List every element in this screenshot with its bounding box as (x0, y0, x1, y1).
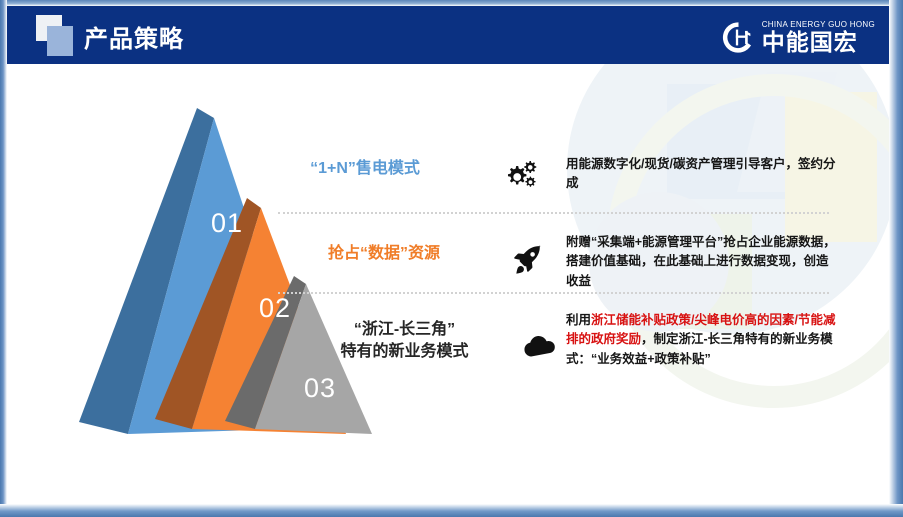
desc-03-prefix: 利用 (566, 313, 591, 327)
slide-border-bottom (0, 504, 903, 517)
row-divider-1 (278, 212, 829, 214)
logo-text: CHINA ENERGY GUO HONG 中能国宏 (762, 21, 875, 54)
strategy-title-01: “1+N”售电模式 (250, 158, 480, 180)
slide-border-right (889, 0, 903, 517)
strategy-row-03: “浙江-长三角” 特有的新业务模式 利用浙江储能补贴政策/尖峰电价高的因素/节能… (7, 309, 889, 391)
content-area: 01 02 03 “1+N”售电模式 用能源数字化/现货 (7, 64, 889, 504)
strategy-description-01: 用能源数字化/现货/碳资产管理引导客户，签约分成 (566, 155, 838, 194)
strategy-title-03: “浙江-长三角” 特有的新业务模式 (307, 319, 502, 362)
company-logo: CHINA ENERGY GUO HONG 中能国宏 (722, 19, 875, 55)
rocket-icon (507, 240, 547, 280)
cloud-icon (520, 327, 560, 367)
slide-canvas: 产品策略 CHINA ENERGY GUO HONG 中能国宏 (0, 0, 903, 517)
header-bar: 产品策略 CHINA ENERGY GUO HONG 中能国宏 (7, 6, 889, 64)
slide-border-left (0, 0, 7, 517)
logo-english-name: CHINA ENERGY GUO HONG (762, 21, 875, 29)
page-title: 产品策略 (84, 19, 184, 54)
strategy-description-02: 附赠“采集端+能源管理平台”抢占企业能源数据，搭建价值基础，在此基础上进行数据变… (566, 233, 838, 291)
row-divider-2 (278, 292, 829, 294)
strategy-row-02: 抢占“数据”资源 附赠“采集端+能源管理平台”抢占企业能源数据，搭建价值基础，在… (7, 227, 889, 309)
logo-mark-icon (722, 21, 755, 54)
header-square-blue-icon (47, 26, 73, 56)
gears-icon (500, 155, 540, 195)
strategy-description-03: 利用浙江储能补贴政策/尖峰电价高的因素/节能减排的政府奖励，制定浙江-长三角特有… (566, 311, 838, 369)
logo-chinese-name: 中能国宏 (762, 31, 875, 54)
strategy-title-02: 抢占“数据”资源 (275, 243, 493, 265)
